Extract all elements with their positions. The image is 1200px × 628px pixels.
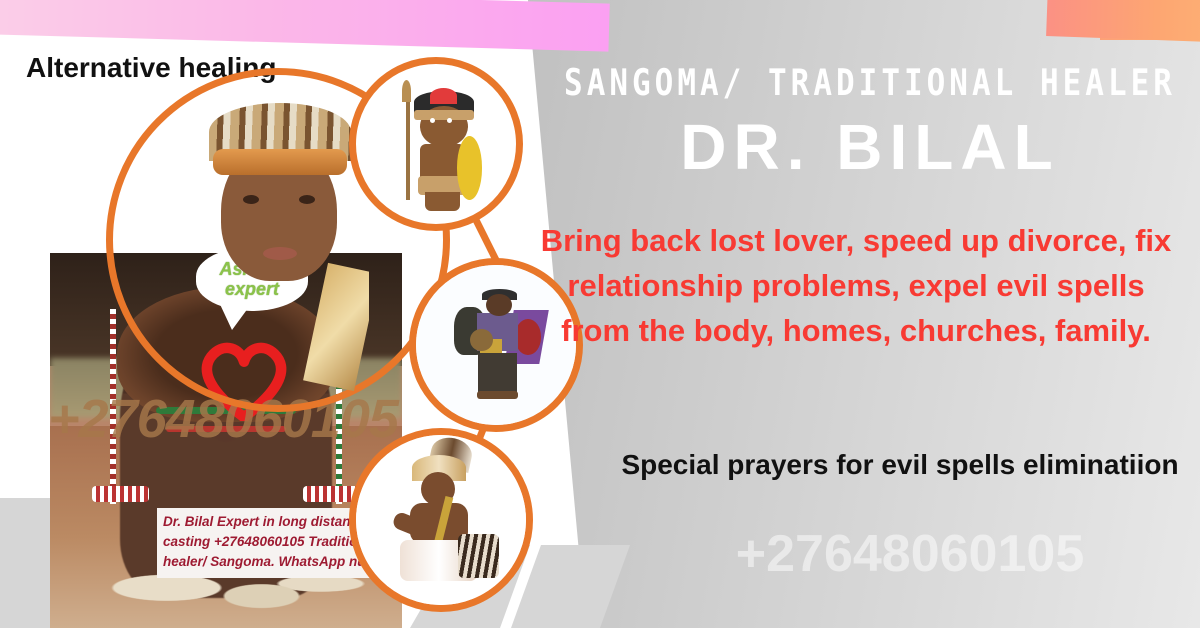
phone-number-watermark: +27648060105 bbox=[620, 524, 1200, 584]
special-prayers-text: Special prayers for evil spells eliminat… bbox=[620, 443, 1180, 487]
poster-kicker: SANGOMA/ TRADITIONAL HEALER bbox=[560, 62, 1180, 104]
top-right-orange-band bbox=[1046, 0, 1200, 43]
zulu-warrior-illustration bbox=[349, 57, 523, 231]
services-text: Bring back lost lover, speed up divorce,… bbox=[536, 218, 1176, 353]
poster-title: DR. BILAL bbox=[560, 110, 1180, 184]
caption-line-3: healer/ Sangoma. WhatsApp nu bbox=[163, 552, 387, 572]
zulu-dancer-illustration bbox=[349, 428, 533, 612]
poster-canvas: Alternative healing +27648060105 Ask the… bbox=[0, 0, 1200, 628]
photo-armband-left bbox=[92, 486, 148, 502]
top-left-pink-band bbox=[0, 0, 610, 52]
chief-illustration bbox=[191, 97, 369, 397]
